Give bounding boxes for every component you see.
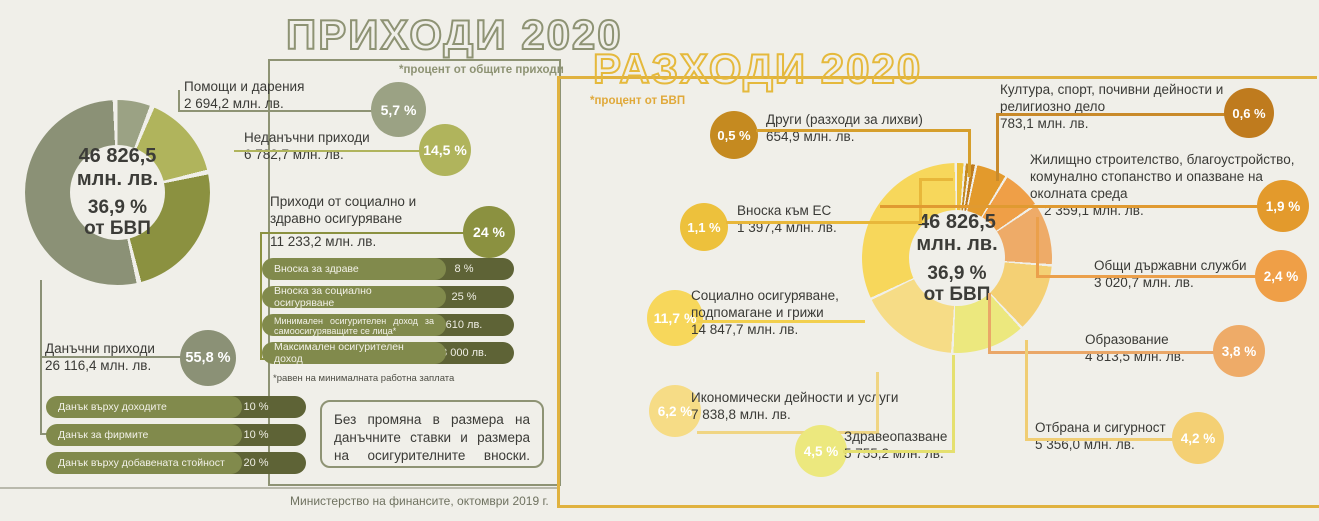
revenue-item-nontax-label: Неданъчни приходи 6 782,7 млн. лв. <box>244 130 370 164</box>
expenses-title: РАЗХОДИ 2020 <box>593 45 922 93</box>
expense-item-culture-value: 783,1 млн. лв. <box>1000 116 1223 133</box>
revenue-leader-tax-h <box>40 356 186 358</box>
expense-badge-eu: 1,1 % <box>680 203 728 251</box>
expense-item-health-label: Здравеопазване 5 755,2 млн. лв. <box>844 429 947 463</box>
revenues-center-unit: млн. лв. <box>77 168 158 190</box>
insurance-pill-max-income-label: Максимален осигурителен доход <box>262 342 446 364</box>
tax-pill-income-label: Данък върху доходите <box>46 396 242 418</box>
insurance-pill-min-income-label-2: самоосигуряващите се лица* <box>274 327 434 337</box>
expense-badge-health: 4,5 % <box>795 425 847 477</box>
revenue-leader-social-h <box>260 232 465 234</box>
expense-item-culture-title: Култура, спорт, почивни дейности и <box>1000 82 1223 99</box>
expense-badge-defense: 4,2 % <box>1172 412 1224 464</box>
expense-leader-eu-v <box>919 178 922 222</box>
insurance-footnote: *равен на минималната работна заплата <box>273 373 454 384</box>
insurance-pill-max-income: 3 000 лв. Максимален осигурителен доход <box>262 342 514 364</box>
revenue-leader-grants-h <box>178 110 376 112</box>
expense-leader-general-v <box>1036 217 1039 277</box>
expense-leader-economy-v <box>876 372 879 432</box>
revenue-item-tax-value: 26 116,4 млн. лв. <box>45 358 155 375</box>
tax-pill-corporate-label: Данък за фирмите <box>46 424 242 446</box>
expense-leader-education-h <box>988 351 1216 354</box>
revenue-badge-social: 24 % <box>463 206 515 258</box>
expense-leader-eu-h2 <box>919 178 953 181</box>
expense-item-general-title: Общи държавни служби <box>1094 258 1247 275</box>
expenses-center-unit: млн. лв. <box>916 233 997 255</box>
revenue-item-nontax-title: Неданъчни приходи <box>244 130 370 147</box>
revenue-item-social-label: Приходи от социално и здравно осигуряван… <box>270 194 416 251</box>
expense-badge-other: 0,5 % <box>710 111 758 159</box>
expense-leader-general-h <box>1036 275 1260 278</box>
expense-item-education-label: Образование 4 813,5 млн. лв. <box>1085 332 1185 366</box>
infographic-root: ПРИХОДИ 2020 *процент от общите приходи … <box>0 0 1319 521</box>
expense-badge-education: 3,8 % <box>1213 325 1265 377</box>
expense-badge-culture: 0,6 % <box>1224 88 1274 138</box>
expense-leader-defense-h <box>1025 438 1185 441</box>
expense-badge-general: 2,4 % <box>1255 250 1307 302</box>
expense-item-health-value: 5 755,2 млн. лв. <box>844 446 947 463</box>
expense-item-economy-value: 7 838,8 млн. лв. <box>691 407 898 424</box>
tax-pill-corporate: 10 % Данък за фирмите <box>46 424 306 446</box>
revenue-item-grants-title: Помощи и дарения <box>184 79 304 96</box>
expense-leader-education-v <box>988 293 991 353</box>
revenue-item-social-title: Приходи от социално и <box>270 194 416 211</box>
revenue-leader-grants-v <box>178 90 180 112</box>
expense-leader-social-h <box>697 320 865 323</box>
tax-pill-income: 10 % Данък върху доходите <box>46 396 306 418</box>
footer-rule <box>0 487 557 489</box>
insurance-pill-health-label: Вноска за здраве <box>262 258 446 280</box>
revenue-leader-nontax-h <box>234 150 434 152</box>
expenses-donut-center: 46 826,5 млн. лв. 36,9 % от БВП <box>909 210 1005 306</box>
revenue-badge-grants: 5,7 % <box>371 82 426 137</box>
revenues-note: *процент от общите приходи <box>399 64 564 76</box>
expense-leader-other-h <box>756 129 971 132</box>
expenses-center-gdp: от БВП <box>924 284 991 305</box>
expense-leader-eu-h <box>726 221 922 224</box>
expense-leader-other-v <box>968 129 971 177</box>
expense-leader-culture-h <box>998 113 1229 116</box>
revenues-center-amount: 46 826,5 <box>79 145 157 167</box>
expenses-frame-bottom <box>557 505 1319 508</box>
tax-pill-vat: 20 % Данък върху добавената стойност <box>46 452 306 474</box>
expense-leader-health-h <box>843 450 955 453</box>
expense-item-eu-title: Вноска към ЕС <box>737 203 837 220</box>
expenses-note: *процент от БВП <box>590 95 685 107</box>
expense-item-culture-label: Култура, спорт, почивни дейности и религ… <box>1000 82 1223 133</box>
insurance-pill-min-income-label: Минимален осигурителен доход за самоосиг… <box>262 314 446 336</box>
expenses-center-amount: 46 826,5 <box>918 211 996 233</box>
source-footer: Министерство на финансите, октомври 2019… <box>290 494 549 508</box>
expense-item-economy-label: Икономически дейности и услуги 7 838,8 м… <box>691 390 898 424</box>
insurance-pill-health: 8 % Вноска за здраве <box>262 258 514 280</box>
insurance-pill-min-income: 610 лв. Минимален осигурителен доход за … <box>262 314 514 336</box>
expense-item-housing-title: Жилищно строителство, благоустройство, <box>1030 152 1294 169</box>
expense-leader-defense-v <box>1025 340 1028 440</box>
revenues-center-gdp: от БВП <box>84 218 151 239</box>
expense-item-defense-label: Отбрана и сигурност 5 356,0 млн. лв. <box>1035 420 1166 454</box>
revenues-donut-center: 46 826,5 млн. лв. 36,9 % от БВП <box>70 145 165 240</box>
revenue-item-social-value: 11 233,2 млн. лв. <box>270 234 416 251</box>
expense-badge-housing: 1,9 % <box>1257 180 1309 232</box>
expense-item-social-title: Социално осигуряване, <box>691 288 839 305</box>
revenues-center-percent: 36,9 % <box>88 197 147 218</box>
expense-item-health-title: Здравеопазване <box>844 429 947 446</box>
expense-item-education-title: Образование <box>1085 332 1185 349</box>
expenses-frame-left <box>557 76 560 508</box>
revenues-donut-chart: 46 826,5 млн. лв. 36,9 % от БВП <box>25 100 210 285</box>
tax-pill-vat-label: Данък върху добавената стойност <box>46 452 242 474</box>
expense-item-defense-title: Отбрана и сигурност <box>1035 420 1166 437</box>
expense-item-social-label: Социално осигуряване, подпомагане и гриж… <box>691 288 839 339</box>
revenue-badge-nontax: 14,5 % <box>419 124 471 176</box>
revenues-title: ПРИХОДИ 2020 <box>286 11 623 59</box>
revenue-item-grants-label: Помощи и дарения 2 694,2 млн. лв. <box>184 79 304 113</box>
expense-item-economy-title: Икономически дейности и услуги <box>691 390 898 407</box>
revenue-item-social-title-2: здравно осигуряване <box>270 211 416 228</box>
expense-item-other-title: Други (разходи за лихви) <box>766 112 923 129</box>
expenses-center-percent: 36,9 % <box>927 263 986 284</box>
expense-item-social-value: 14 847,7 млн. лв. <box>691 322 839 339</box>
expense-item-housing-title-3: околната среда <box>1030 186 1294 203</box>
revenues-callout-box: Без промяна в размера на данъчните ставк… <box>320 400 544 468</box>
revenue-badge-tax: 55,8 % <box>180 330 236 386</box>
expense-item-eu-label: Вноска към ЕС 1 397,4 млн. лв. <box>737 203 837 237</box>
expense-leader-health-v <box>952 355 955 451</box>
expense-leader-culture-v <box>996 113 999 181</box>
expense-item-housing-label: Жилищно строителство, благоустройство, к… <box>1030 152 1294 220</box>
insurance-pill-social-label: Вноска за социално осигуряване <box>262 286 446 308</box>
expense-leader-housing-h <box>880 205 1264 208</box>
insurance-pill-social: 25 % Вноска за социално осигуряване <box>262 286 514 308</box>
expense-item-housing-title-2: комунално стопанство и опазване на <box>1030 169 1294 186</box>
expenses-donut-chart: 46 826,5 млн. лв. 36,9 % от БВП <box>862 163 1052 353</box>
